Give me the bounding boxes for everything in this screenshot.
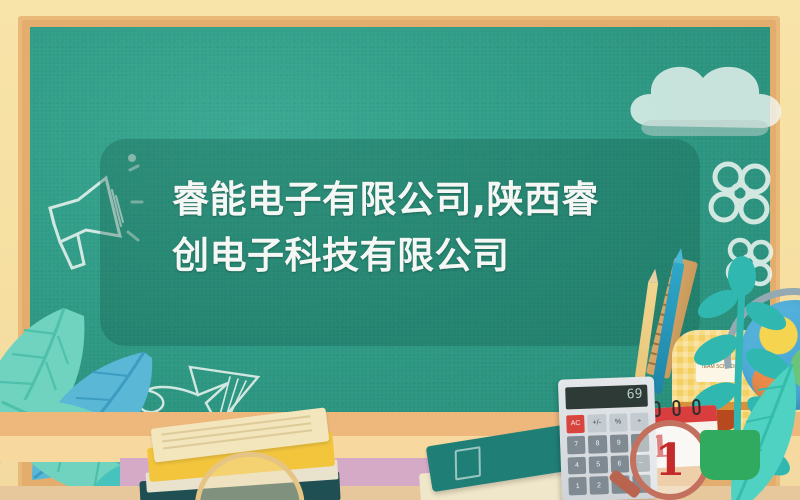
calculator-key[interactable]: 1 <box>568 477 587 495</box>
page-title: 睿能电子有限公司,陕西睿 创电子科技有限公司 <box>172 172 642 284</box>
pen-holder <box>700 430 760 480</box>
magnifier-number: 1 <box>630 420 710 500</box>
calculator-key[interactable]: 8 <box>588 435 607 453</box>
calculator-key[interactable]: 4 <box>568 456 587 474</box>
magnifying-glass: 1 <box>630 420 710 500</box>
calendar-ring <box>692 399 701 415</box>
calculator-key[interactable]: 9 <box>609 434 628 452</box>
calendar-ring <box>672 400 681 416</box>
headline-line-2: 创电子科技有限公司 <box>172 228 642 284</box>
calculator-key[interactable]: 7 <box>567 436 586 454</box>
calculator-key[interactable]: AC <box>566 415 585 433</box>
calculator-key[interactable]: 5 <box>589 456 608 474</box>
pencil-tip-icon <box>648 268 660 283</box>
flower-chalk-icon <box>700 155 780 235</box>
poster-canvas: 睿能电子有限公司,陕西睿 创电子科技有限公司 <box>0 0 800 500</box>
headline-line-1: 睿能电子有限公司,陕西睿 <box>172 172 642 228</box>
calculator-display: 69 <box>565 385 648 410</box>
calculator-key[interactable]: % <box>609 413 628 431</box>
calculator-key[interactable]: 2 <box>590 476 609 494</box>
calculator-key[interactable]: +/- <box>587 414 606 432</box>
